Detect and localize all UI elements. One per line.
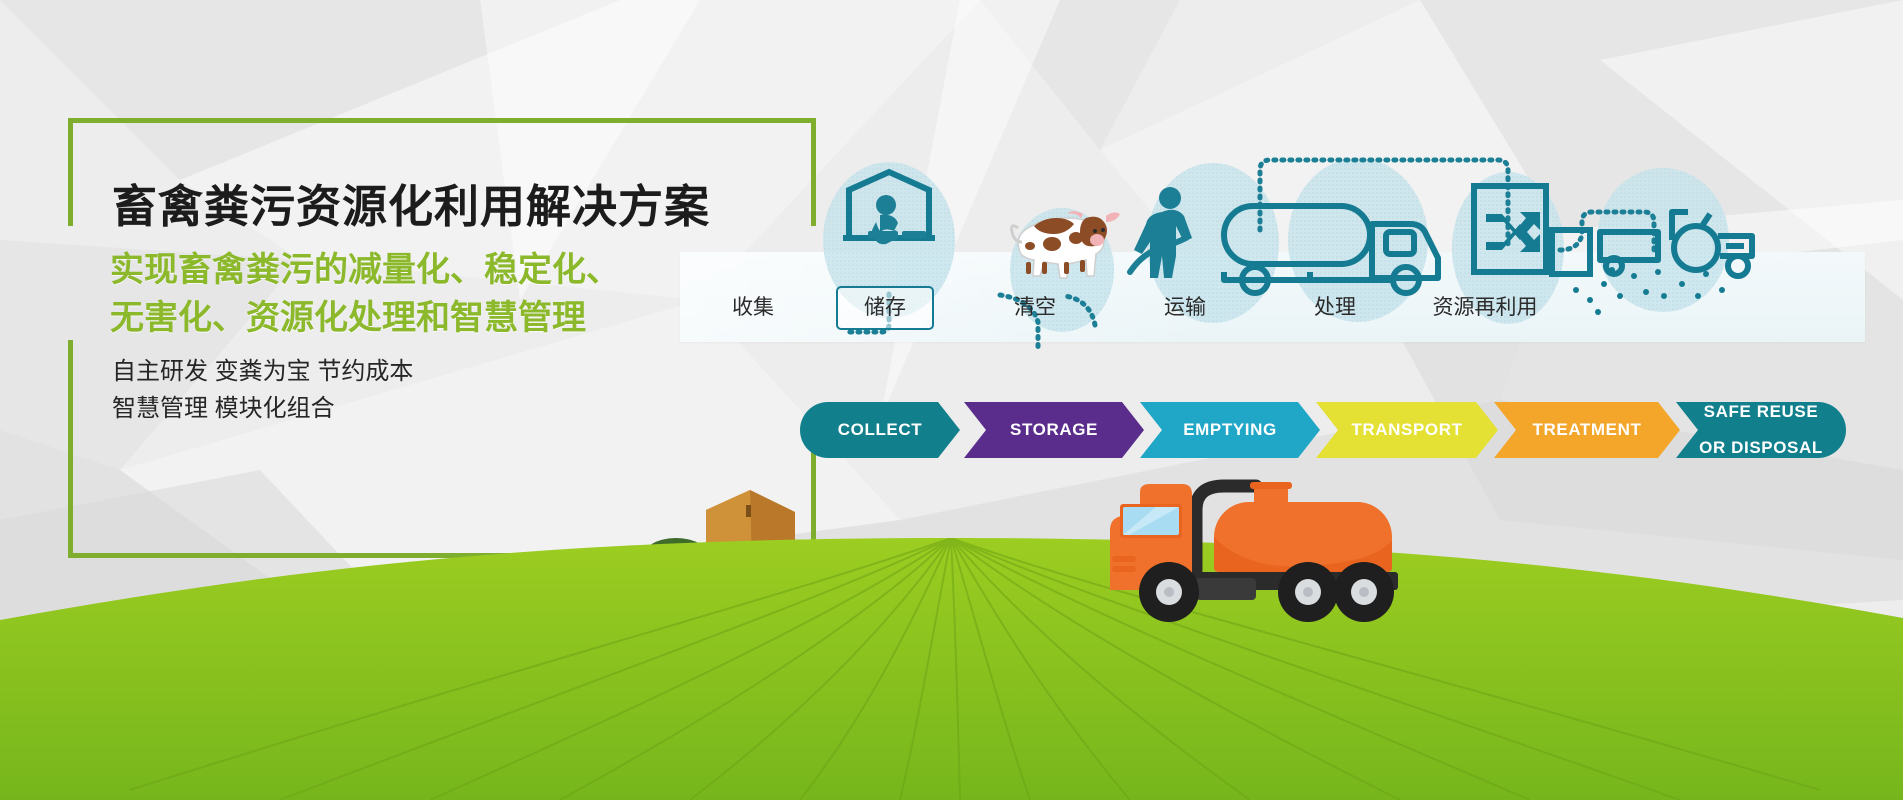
process-cn-labels: 收集 储存 清空 运输 处理 资源再利用 (680, 288, 1865, 332)
chevron-collect-label: COLLECT (832, 421, 928, 439)
chevron-storage[interactable]: STORAGE (964, 402, 1144, 458)
chevron-treatment[interactable]: TREATMENT (1494, 402, 1680, 458)
chevron-transport-label: TRANSPORT (1345, 421, 1468, 439)
chevron-safe-reuse-label: SAFE REUSE OR DISPOSAL (1687, 403, 1835, 457)
banner-root: 畜禽粪污资源化利用解决方案 实现畜禽粪污的减量化、稳定化、 无害化、资源化处理和… (0, 0, 1903, 800)
chevron-safe-reuse-line-2: OR DISPOSAL (1693, 439, 1829, 457)
step-label-storage[interactable]: 储存 (836, 286, 934, 330)
step-label-emptying[interactable]: 清空 (980, 288, 1090, 328)
chevron-storage-label: STORAGE (1004, 421, 1104, 439)
step-label-transport[interactable]: 运输 (1130, 288, 1240, 328)
step-label-reuse[interactable]: 资源再利用 (1390, 288, 1580, 328)
chevron-emptying-label: EMPTYING (1177, 421, 1283, 439)
chevron-emptying[interactable]: EMPTYING (1140, 402, 1320, 458)
chevron-safe-reuse-line-1: SAFE REUSE (1693, 403, 1829, 421)
chevron-treatment-label: TREATMENT (1527, 421, 1648, 439)
chevron-collect[interactable]: COLLECT (800, 402, 960, 458)
step-label-treatment[interactable]: 处理 (1280, 288, 1390, 328)
chevron-safe-reuse[interactable]: SAFE REUSE OR DISPOSAL (1676, 402, 1846, 458)
process-icon-layer (0, 0, 1903, 800)
chevron-transport[interactable]: TRANSPORT (1316, 402, 1498, 458)
step-label-collect[interactable]: 收集 (698, 288, 808, 328)
